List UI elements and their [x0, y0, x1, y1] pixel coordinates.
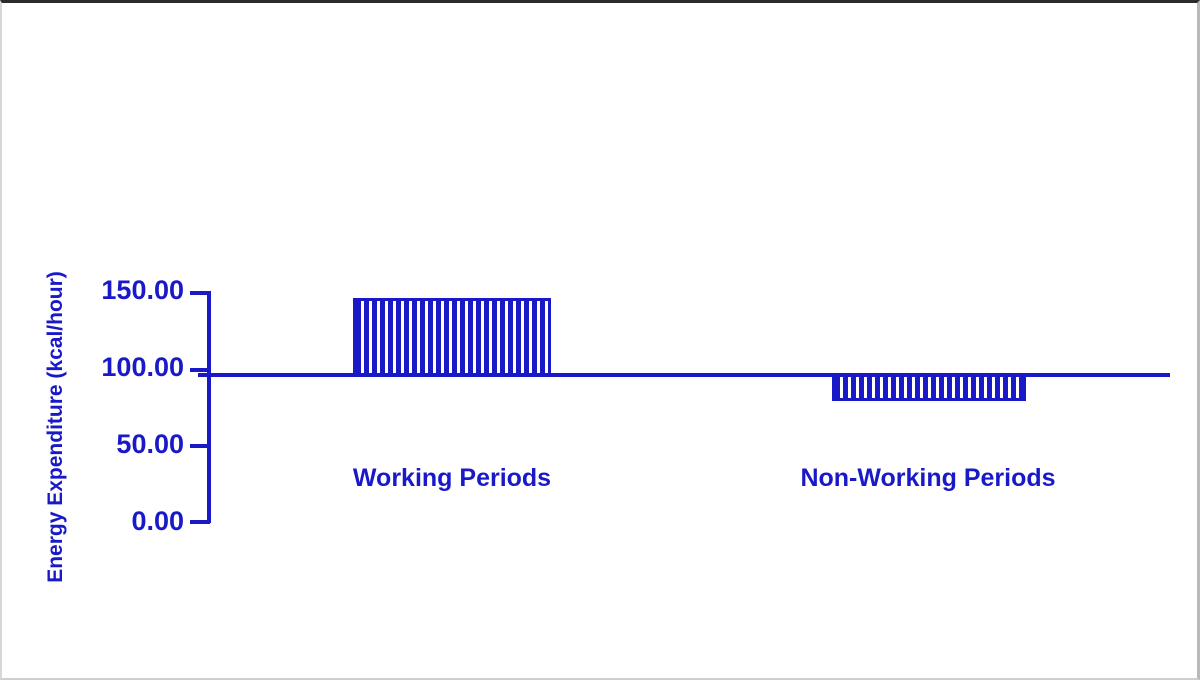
chart-figure: Energy Expenditure (kcal/hour) 150.00 10…: [0, 0, 1200, 680]
bar-non-working-periods: [832, 374, 1026, 401]
y-tick-label-50: 50.00: [64, 431, 184, 458]
y-axis-spine: [207, 291, 211, 523]
y-tick-mark-150: [190, 291, 210, 295]
bar-working-periods: [353, 298, 551, 376]
y-tick-mark-50: [190, 444, 210, 448]
category-label-non-working-periods: Non-Working Periods: [754, 466, 1102, 491]
y-tick-label-0: 0.00: [64, 508, 184, 535]
y-tick-label-150: 150.00: [64, 277, 184, 304]
category-label-working-periods: Working Periods: [302, 466, 602, 491]
y-tick-label-group: 150.00 100.00 50.00 0.00: [62, 3, 184, 680]
y-tick-label-100: 100.00: [64, 354, 184, 381]
y-tick-mark-100: [190, 368, 210, 372]
y-tick-mark-0: [190, 520, 210, 524]
